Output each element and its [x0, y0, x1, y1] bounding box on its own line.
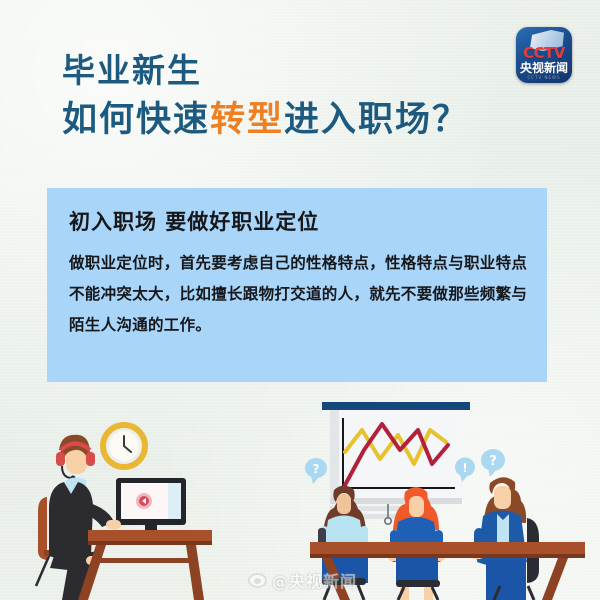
person-man-right	[470, 477, 539, 600]
man-right-face	[494, 486, 511, 509]
poster-root: CCTV 央视新闻 CCTV NEWS 毕业新生 如何快速转型进入职场？ 初入职…	[0, 0, 600, 600]
woman-left-face	[337, 494, 351, 514]
woman-center-skirt	[396, 558, 438, 582]
screen-shadow-left	[330, 410, 339, 498]
bubble-center-glyph: !	[462, 461, 467, 475]
headline-line-2-before: 如何快速	[62, 100, 210, 140]
work-desk-leg-right	[186, 545, 204, 600]
meeting-desk-top	[310, 542, 585, 554]
work-desk-edge	[88, 541, 212, 545]
meeting-desk-leg-right	[542, 558, 568, 600]
headline-block: 毕业新生 如何快速转型进入职场？	[62, 54, 562, 138]
headline-accent-text: 转型	[210, 100, 284, 140]
man-hand	[106, 520, 121, 529]
content-card: 初入职场 要做好职业定位 做职业定位时，首先要考虑自己的性格特点，性格特点与职业…	[47, 188, 547, 382]
headset-ear-right	[86, 452, 95, 466]
headline-line-2: 如何快速转型进入职场？	[62, 103, 562, 138]
bubble-right-glyph: ?	[489, 454, 497, 469]
office-chair-leg	[36, 556, 49, 586]
bubble-left-glyph: ?	[313, 462, 320, 476]
headline-line-2-after: 进入职场？	[284, 100, 469, 140]
card-title: 初入职场 要做好职业定位	[69, 206, 319, 236]
illustration: ? ! ?	[0, 390, 600, 600]
speech-bubble-left: ?	[305, 458, 327, 484]
woman-center-face	[409, 496, 424, 517]
work-desk	[78, 530, 212, 600]
speech-bubble-right: ?	[481, 449, 505, 477]
man-right-legs	[486, 560, 526, 600]
screen-roller-bar	[322, 402, 470, 410]
card-body-text: 做职业定位时，首先要考虑自己的性格特点，性格特点与职业特点不能冲突太大，比如擅长…	[69, 248, 529, 341]
headline-line-1: 毕业新生	[62, 54, 562, 87]
work-desk-top	[88, 530, 212, 541]
work-desk-crossbar	[98, 558, 190, 563]
desktop-monitor	[116, 478, 186, 536]
wall-clock	[103, 425, 145, 467]
meeting-desk-edge	[310, 554, 585, 558]
headset-ear-left	[56, 452, 65, 466]
